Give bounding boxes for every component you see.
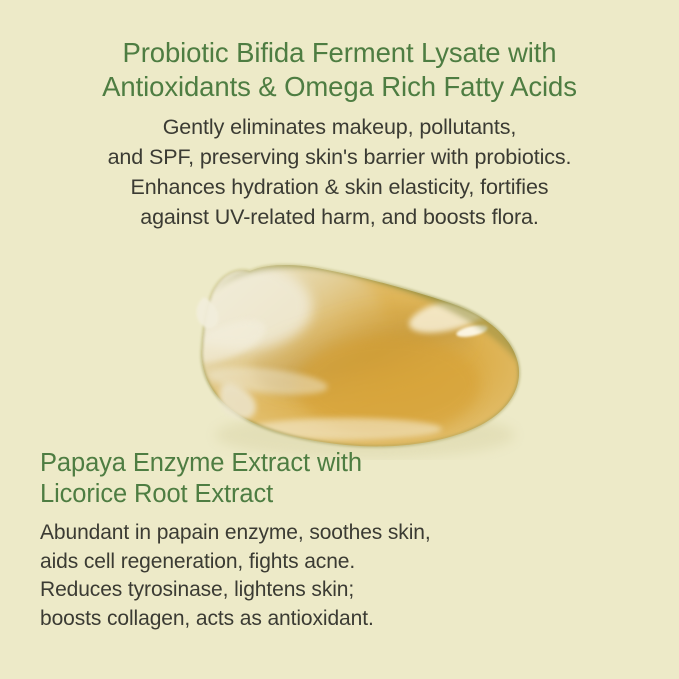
top-heading-line-1: Probiotic Bifida Ferment Lysate with xyxy=(122,37,556,68)
top-section-body: Gently eliminates makeup, pollutants, an… xyxy=(40,112,640,232)
top-body-line-1: Gently eliminates makeup, pollutants, xyxy=(40,112,640,142)
top-body-line-2: and SPF, preserving skin's barrier with … xyxy=(40,142,640,172)
top-body-line-4: against UV-related harm, and boosts flor… xyxy=(40,202,640,232)
top-heading-line-2: Antioxidants & Omega Rich Fatty Acids xyxy=(102,71,577,102)
bottom-heading-line-2: Licorice Root Extract xyxy=(40,479,600,510)
bottom-body-line-3: Reduces tyrosinase, lightens skin; xyxy=(40,576,600,605)
bottom-heading-line-1: Papaya Enzyme Extract with xyxy=(40,448,600,479)
gel-swatch-illustration xyxy=(150,245,550,460)
bottom-section-heading: Papaya Enzyme Extract with Licorice Root… xyxy=(40,448,600,509)
top-section: Probiotic Bifida Ferment Lysate with Ant… xyxy=(0,36,679,232)
gel-swatch-image xyxy=(150,245,550,460)
bottom-body-line-4: boosts collagen, acts as antioxidant. xyxy=(40,605,600,634)
bottom-body-line-2: aids cell regeneration, fights acne. xyxy=(40,548,600,577)
bottom-section: Papaya Enzyme Extract with Licorice Root… xyxy=(40,448,600,633)
product-ingredient-infographic: Probiotic Bifida Ferment Lysate with Ant… xyxy=(0,0,679,679)
top-section-heading: Probiotic Bifida Ferment Lysate with Ant… xyxy=(60,36,620,104)
bottom-section-body: Abundant in papain enzyme, soothes skin,… xyxy=(40,519,600,633)
bottom-body-line-1: Abundant in papain enzyme, soothes skin, xyxy=(40,519,600,548)
top-body-line-3: Enhances hydration & skin elasticity, fo… xyxy=(40,172,640,202)
